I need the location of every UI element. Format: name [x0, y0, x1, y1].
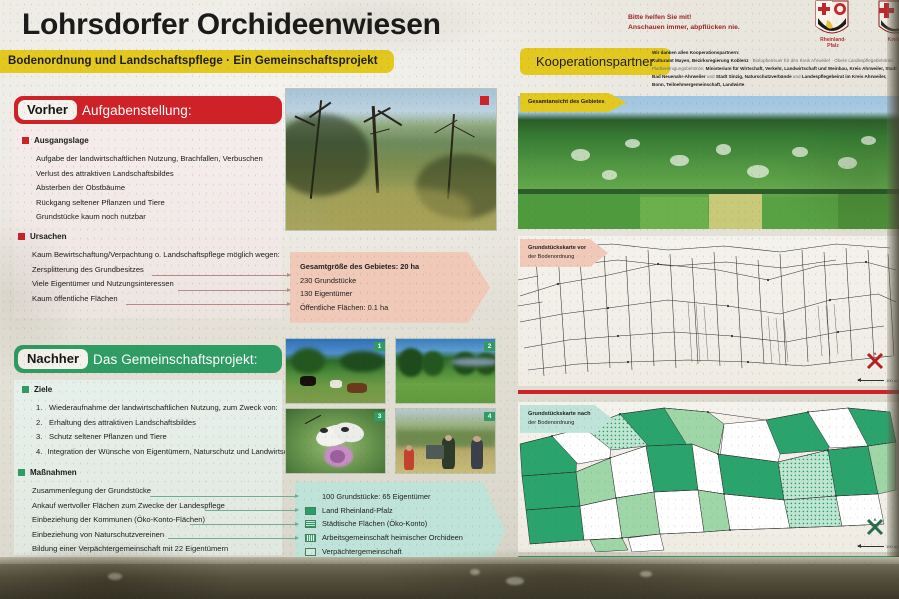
kooperationspartner-banner: Kooperationspartner	[520, 48, 670, 75]
subtitle-banner: Bodenordnung und Landschaftspflege · Ein…	[0, 50, 394, 73]
photo-badge: 3	[374, 412, 385, 421]
volunteers-working-photo	[395, 408, 496, 474]
connector-line	[168, 538, 298, 539]
nachher-pill-label: Nachher	[18, 349, 88, 370]
vorher-header: Vorher Aufgabenstellung:	[14, 96, 282, 124]
map-after-label: Grundstückskarte nach der Bodenordnung	[520, 405, 613, 433]
map-before-label: Grundstückskarte vor der Bodenordnung	[520, 239, 608, 267]
list-item: Absterben der Obstbäume	[36, 181, 278, 196]
information-board: Lohrsdorfer Orchideenwiesen Bodenordnung…	[0, 0, 899, 599]
label-line-2: der Bodenordnung	[528, 419, 591, 428]
connector-line	[126, 304, 290, 305]
ursachen-label: Ursachen	[18, 232, 286, 241]
ziele-list: 1. Wiederaufnahme der landwirtschaftlich…	[22, 401, 278, 459]
crest-caption-1: Rheinland-Pfalz	[815, 37, 851, 49]
connector-line	[178, 290, 290, 291]
ursachen-list: Kaum Bewirtschaftung/Verpachtung o. Land…	[18, 248, 286, 306]
list-item: Kaum Bewirtschaftung/Verpachtung o. Land…	[32, 248, 286, 263]
legend-label: Arbeitsgemeinschaft heimischer Orchideen	[322, 531, 463, 545]
overgrown-landscape-photo	[285, 88, 497, 231]
nachher-panel: Nachher Das Gemeinschaftsprojekt: Ziele …	[14, 345, 282, 465]
list-item: 4. Integration der Wünsche von Eigentüme…	[36, 445, 278, 460]
nachher-heading: Das Gemeinschaftsprojekt:	[93, 352, 258, 367]
list-item: Aufgabe der landwirtschaftlichen Nutzung…	[36, 152, 278, 167]
koop-part: und	[792, 74, 802, 79]
connector-line	[190, 524, 298, 525]
label-text: Grundstückskarte nach	[528, 411, 591, 417]
photo-scene	[286, 89, 496, 230]
rheinland-pfalz-crest-icon	[815, 0, 849, 40]
list-item: Rückgang seltener Pflanzen und Tiere	[36, 196, 278, 211]
legend-label: Städtische Flächen (Öko-Konto)	[322, 517, 427, 531]
koop-part: Stadt Sinzig, Naturschutzverbände	[716, 74, 792, 79]
label-text: Grundstückskarte vor	[528, 245, 586, 251]
callout-line: 130 Eigentümer	[300, 287, 464, 301]
notice-line-2: Anschauen immer, abpflücken nie.	[628, 23, 778, 33]
ursachen-text: Ursachen	[30, 232, 66, 241]
nachher-body: Ziele 1. Wiederaufnahme der landwirtscha…	[14, 373, 282, 465]
list-number: 3.	[36, 430, 44, 445]
koop-part: Bonn, Teilnehmergemeinschaft, Landwirte	[652, 82, 744, 87]
connector-line	[152, 275, 290, 276]
label-line-2: der Bodenordnung	[528, 253, 586, 262]
koop-body: Kulturamt Mayen, Bezirksregierung Koblen…	[652, 57, 898, 89]
ausgangslage-label: Ausgangslage	[22, 136, 278, 145]
label-text: Gesamtansicht des Gebietes	[528, 99, 604, 105]
butterfly-on-flower-photo	[285, 408, 386, 474]
list-item: Verlust des attraktiven Landschaftsbilde…	[36, 167, 278, 182]
aerial-photo-label: Gesamtansicht des Gebietes	[520, 93, 626, 112]
legend-item: Land Rheinland-Pfalz	[305, 504, 479, 518]
koop-part: Landespflegebeirat im Kreis Ahrweiler,	[802, 74, 887, 79]
cattle-grazing-photo	[285, 338, 386, 404]
compass-rose-icon	[866, 518, 884, 536]
vorher-body: Ausgangslage Aufgabe der landwirtschaftl…	[14, 124, 282, 231]
koop-part: Flurbereinigungsbehörde,	[652, 66, 706, 71]
label-line-1: Grundstückskarte nach	[528, 410, 591, 419]
koop-intro: Wir danken allen Kooperationspartnern:	[652, 49, 898, 57]
ziele-text: Ziele	[34, 385, 52, 394]
vorher-panel: Vorher Aufgabenstellung: Ausgangslage Au…	[14, 96, 282, 231]
board-frame-right	[887, 0, 899, 599]
callout-line: Gesamtgröße des Gebietes: 20 ha	[300, 260, 464, 274]
massnahmen-list: Zusammenlegung der Grundstücke Ankauf we…	[18, 484, 298, 557]
page-title: Lohrsdorfer Orchideenwiesen	[22, 8, 441, 42]
vorher-statistics-callout: Gesamtgröße des Gebietes: 20 ha 230 Grun…	[290, 252, 490, 323]
legend-item: Arbeitsgemeinschaft heimischer Orchideen	[305, 531, 479, 545]
ausgangslage-list: Aufgabe der landwirtschaftlichen Nutzung…	[22, 152, 278, 225]
label-line-1: Grundstückskarte vor	[528, 244, 586, 253]
list-text: Wiederaufnahme der landwirtschaftlichen …	[49, 401, 278, 416]
green-square-icon	[18, 469, 25, 476]
board-frame-bottom	[0, 557, 899, 599]
photo-scene	[396, 339, 495, 403]
koop-part: und	[706, 74, 716, 79]
notice-line-1: Bitte helfen Sie mit!	[628, 13, 778, 23]
ursachen-block: Ursachen Kaum Bewirtschaftung/Verpachtun…	[18, 232, 286, 306]
red-square-icon	[18, 233, 25, 240]
legend-swatch-icon	[305, 520, 316, 528]
ziele-label: Ziele	[22, 385, 278, 394]
photo-badge-red	[480, 96, 489, 105]
connector-line	[150, 496, 298, 497]
list-item: Einbeziehung der Kommunen (Öko-Konto-Flä…	[32, 513, 298, 528]
massnahmen-block: Maßnahmen Zusammenlegung der Grundstücke…	[18, 468, 298, 557]
photo-scene	[396, 409, 495, 473]
legend-swatch-icon	[305, 507, 316, 515]
scale-bar	[858, 546, 884, 547]
vorher-heading: Aufgabenstellung:	[82, 103, 192, 118]
list-number: 1.	[36, 401, 44, 416]
massnahmen-text: Maßnahmen	[30, 468, 77, 477]
area-overview-photo	[518, 96, 899, 229]
list-text: Integration der Wünsche von Eigentümern,…	[47, 445, 300, 460]
list-item: 2. Erhaltung des attraktiven Landschafts…	[36, 416, 278, 431]
list-number: 2.	[36, 416, 44, 431]
list-text: Erhaltung des attraktiven Landschaftsbil…	[49, 416, 196, 431]
photo-badge: 1	[374, 342, 385, 351]
red-square-icon	[22, 137, 29, 144]
vorher-pill-label: Vorher	[18, 100, 77, 121]
legend-swatch-icon	[305, 548, 316, 556]
divider-red	[518, 390, 899, 394]
koop-part: Ministerium für Wirtschaft, Verkehr, Lan…	[706, 66, 884, 71]
photo-scene	[286, 409, 385, 473]
list-item: Bildung einer Verpächtergemeinschaft mit…	[32, 542, 298, 557]
list-item: Grundstücke kaum noch nutzbar	[36, 210, 278, 225]
legend-swatch-icon	[305, 534, 316, 542]
callout-line: Öffentliche Flächen: 0.1 ha	[300, 301, 464, 315]
koop-part: · Biotopbetreuer für den Kreis Ahrweiler…	[749, 58, 895, 63]
nachher-header: Nachher Das Gemeinschaftsprojekt:	[14, 345, 282, 373]
photo-badge: 2	[484, 342, 495, 351]
list-item: 1. Wiederaufnahme der landwirtschaftlich…	[36, 401, 278, 416]
list-text: Schutz seltener Pflanzen und Tiere	[49, 430, 167, 445]
legend-label: Land Rheinland-Pfalz	[322, 504, 393, 518]
koop-part: Kulturamt Mayen, Bezirksregierung Koblen…	[652, 58, 749, 63]
compass-rose-icon	[866, 352, 884, 370]
visitor-notice: Bitte helfen Sie mit! Anschauen immer, a…	[628, 13, 778, 33]
list-number: 4.	[36, 445, 42, 460]
scale-bar	[858, 380, 884, 381]
callout-line: 100 Grundstücke: 65 Eigentümer	[305, 490, 479, 504]
kooperationspartner-text: Wir danken allen Kooperationspartnern: K…	[652, 49, 898, 89]
callout-line: 230 Grundstücke	[300, 274, 464, 288]
connector-line	[205, 510, 298, 511]
photo-scene	[286, 339, 385, 403]
ausgangslage-text: Ausgangslage	[34, 136, 89, 145]
orchard-meadow-photo	[395, 338, 496, 404]
green-square-icon	[22, 386, 29, 393]
list-item: 3. Schutz seltener Pflanzen und Tiere	[36, 430, 278, 445]
legend-item: Städtische Flächen (Öko-Konto)	[305, 517, 479, 531]
photo-badge: 4	[484, 412, 495, 421]
list-item: Einbeziehung von Naturschutzvereinen	[32, 528, 298, 543]
massnahmen-label: Maßnahmen	[18, 468, 298, 477]
